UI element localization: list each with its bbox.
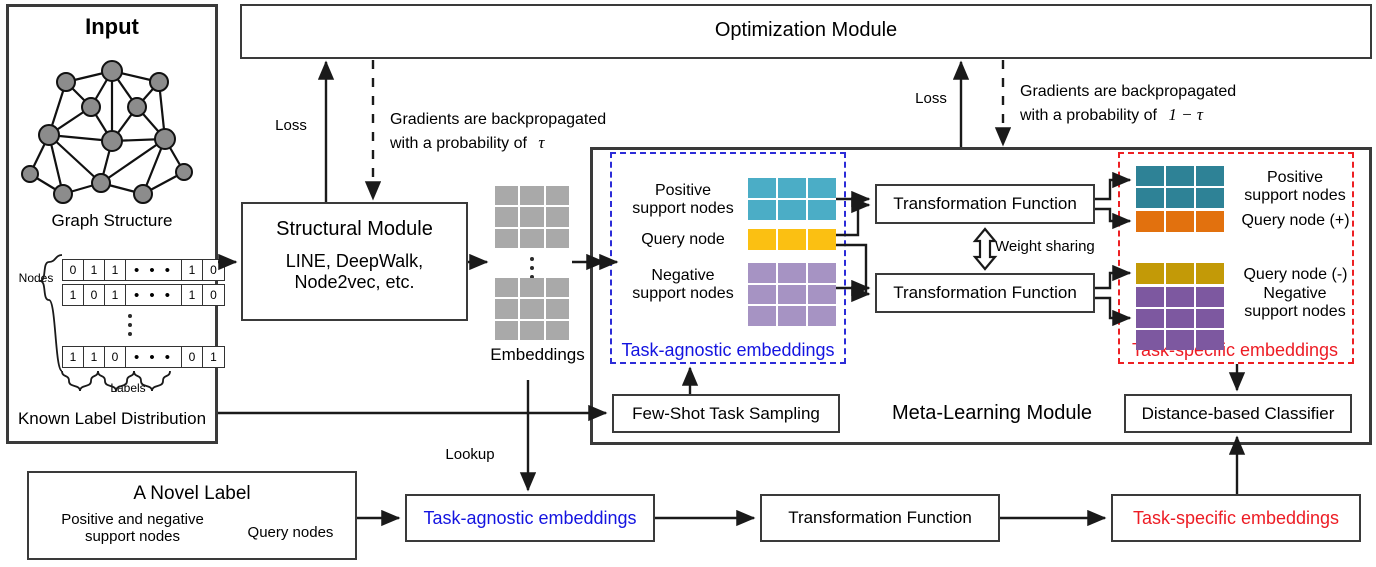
embedding-cell [1166,287,1194,307]
embedding-cell [748,200,776,220]
label-matrix-cell: 1 [105,260,126,280]
embedding-cell [1166,188,1194,208]
embedding-cell [520,278,543,297]
bottom-task-agnostic-label: Task-agnostic embeddings [405,494,655,542]
embeddings-grid-bottom [495,278,569,340]
embedding-cell [520,207,543,226]
ts-query-node-negative-label: Query node (-) [1228,266,1363,284]
ts-positive-support-nodes-label: Positive support nodes [1230,169,1360,206]
a-novel-label-title: A Novel Label [27,483,357,505]
bottom-transformation-function-label: Transformation Function [760,494,1000,542]
query-nodes-label: Query nodes [228,524,353,541]
embedding-cell [808,200,836,220]
embedding-cell [1166,309,1194,329]
embedding-cell [748,285,776,305]
embedding-cell [808,306,836,326]
label-matrix-cell: • • • [126,285,182,305]
embedding-cell [495,278,518,297]
embedding-cell [1136,263,1164,284]
structural-module-subtitle: LINE, DeepWalk, Node2vec, etc. [241,251,468,292]
label-matrix-cell: 0 [84,285,105,305]
embedding-cell [1166,166,1194,186]
embeddings-grid-top [495,186,569,248]
ta-query-node-grid [748,229,836,250]
label-matrix-cell: 0 [203,260,224,280]
gradient-text-right: Gradients are backpropagated with a prob… [1020,80,1340,128]
embedding-cell [1136,211,1164,232]
embedding-cell [748,263,776,283]
embedding-cell [1166,330,1194,350]
embedding-cell [1196,309,1224,329]
lookup-label: Lookup [430,446,510,463]
ts-positive-support-grid [1136,166,1224,208]
ta-negative-support-nodes-label: Negative support nodes [618,267,748,304]
label-matrix-cell: 0 [203,285,224,305]
label-matrix-cell: 0 [182,347,203,367]
embedding-cell [546,207,569,226]
graph-structure-label: Graph Structure [6,211,218,231]
embedding-cell [520,186,543,205]
label-matrix-cell: 1 [105,285,126,305]
diagram-canvas: Input Graph Structure Known Label Distri… [0,0,1376,567]
embedding-cell [1166,211,1194,232]
few-shot-task-sampling-label: Few-Shot Task Sampling [612,394,840,433]
meta-learning-module-title: Meta-Learning Module [862,394,1122,433]
transformation-function-label-top: Transformation Function [875,184,1095,224]
embedding-cell [748,178,776,198]
embeddings-label: Embeddings [465,345,610,365]
label-matrix-cell: 1 [63,347,84,367]
label-matrix-row-2: 110• • •01 [62,346,225,368]
label-matrix-cell: 1 [203,347,224,367]
embedding-cell [546,229,569,248]
transformation-function-label-bottom: Transformation Function [875,273,1095,313]
embedding-cell [520,229,543,248]
label-matrix-cell: 0 [63,260,84,280]
embedding-cell [778,306,806,326]
nodes-brace-label: Nodes [15,272,57,286]
embedding-cell [1136,188,1164,208]
embedding-cell [520,299,543,318]
embedding-cell [546,299,569,318]
embedding-cell [495,207,518,226]
structural-module-title: Structural Module [241,218,468,241]
optimization-module-title: Optimization Module [240,19,1372,42]
input-title: Input [6,14,218,39]
embedding-cell [495,299,518,318]
known-label-distribution-label: Known Label Distribution [4,409,220,429]
embedding-cell [495,321,518,340]
ts-query-node-positive-label: Query node (+) [1228,212,1363,230]
ts-negative-support-grid [1136,287,1224,350]
embedding-cell [748,229,776,250]
ts-query-node-positive-grid [1136,211,1224,232]
embedding-cell [1136,309,1164,329]
gradient-text-right-line2: with a probability of [1020,107,1157,124]
label-matrix-cell: • • • [126,260,182,280]
ta-negative-support-grid [748,263,836,326]
embedding-cell [520,321,543,340]
ts-query-node-negative-grid [1136,263,1224,284]
embedding-cell [778,229,806,250]
embedding-cell [808,263,836,283]
label-matrix-cell: 1 [84,347,105,367]
label-matrix-cell: 1 [182,285,203,305]
embedding-cell [546,186,569,205]
label-matrix-cell: 0 [105,347,126,367]
gradient-text-left-line2: with a probability of [390,135,527,152]
embedding-cell [808,178,836,198]
tau-symbol-left: τ [531,133,544,152]
embedding-cell [778,263,806,283]
embedding-cell [1196,330,1224,350]
embedding-cell [1136,166,1164,186]
label-matrix-cell: 1 [182,260,203,280]
embedding-cell [778,200,806,220]
label-matrix-cell: 1 [63,285,84,305]
embedding-cell [1136,287,1164,307]
distance-based-classifier-label: Distance-based Classifier [1124,394,1352,433]
embedding-cell [495,186,518,205]
gradient-text-left: Gradients are backpropagated with a prob… [390,108,690,156]
embedding-cell [1196,166,1224,186]
loss-label-left: Loss [268,117,314,134]
embedding-cell [546,278,569,297]
embedding-cell [808,229,836,250]
labels-brace-label: Labels [103,382,153,396]
embedding-cell [1196,263,1224,284]
weight-sharing-label: Weight sharing [995,238,1115,255]
label-matrix-cell: • • • [126,347,182,367]
task-agnostic-embeddings-label: Task-agnostic embeddings [610,340,846,361]
embedding-cell [495,229,518,248]
embedding-cell [778,178,806,198]
embedding-cell [748,306,776,326]
loss-label-right: Loss [908,90,954,107]
embedding-cell [808,285,836,305]
ts-negative-support-nodes-label: Negative support nodes [1230,285,1360,322]
gradient-text-right-line1: Gradients are backpropagated [1020,80,1340,103]
embedding-cell [1196,287,1224,307]
embedding-cell [1196,188,1224,208]
tau-symbol-right: 1 − τ [1161,105,1203,124]
embedding-cell [778,285,806,305]
ta-positive-support-nodes-label: Positive support nodes [618,182,748,219]
embedding-cell [546,321,569,340]
ta-positive-support-grid [748,178,836,220]
embedding-cell [1196,211,1224,232]
label-matrix-vertical-dots [120,310,140,340]
embedding-cell [1166,263,1194,284]
positive-negative-support-nodes-label: Positive and negative support nodes [30,511,235,546]
label-matrix-cell: 1 [84,260,105,280]
bottom-task-specific-label: Task-specific embeddings [1111,494,1361,542]
label-matrix-row-1: 101• • •10 [62,284,225,306]
ta-query-node-label: Query node [618,231,748,249]
embedding-cell [1136,330,1164,350]
label-matrix-row-0: 011• • •10 [62,259,225,281]
gradient-text-left-line1: Gradients are backpropagated [390,108,690,131]
